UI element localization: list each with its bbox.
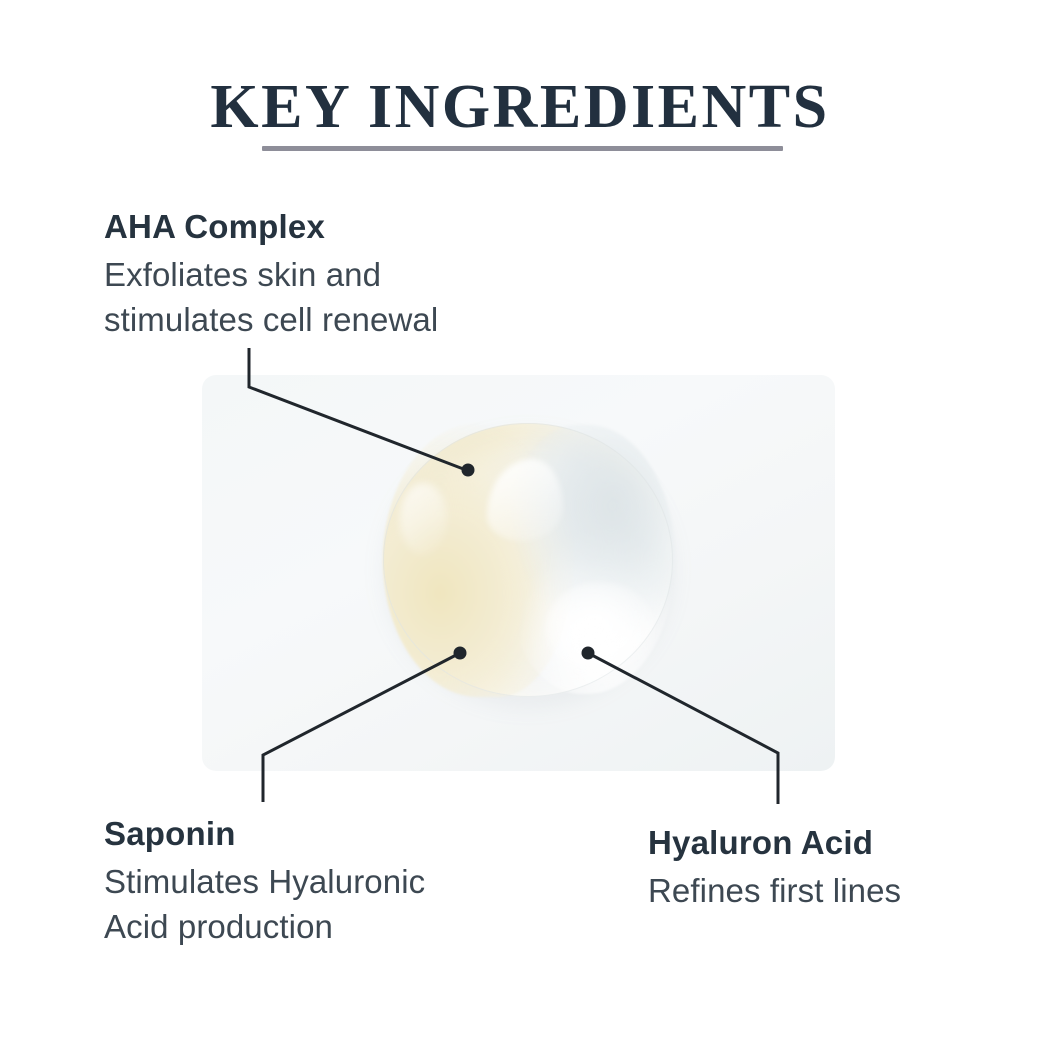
callout-description-line: Stimulates Hyaluronic bbox=[104, 859, 574, 904]
callout-hyaluron-acid: Hyaluron Acid Refines first lines bbox=[648, 822, 1008, 913]
callout-description-hyaluron: Refines first lines bbox=[648, 868, 1008, 913]
callout-description-line: Acid production bbox=[104, 904, 574, 949]
callout-description-aha: Exfoliates skin and stimulates cell rene… bbox=[104, 252, 574, 342]
title-underline-rule bbox=[262, 146, 783, 151]
callout-title-saponin: Saponin bbox=[104, 813, 574, 855]
callout-description-line: stimulates cell renewal bbox=[104, 297, 574, 342]
callout-description-saponin: Stimulates Hyaluronic Acid production bbox=[104, 859, 574, 949]
callout-saponin: Saponin Stimulates Hyaluronic Acid produ… bbox=[104, 813, 574, 949]
bicolor-capsule-pearl bbox=[383, 423, 673, 697]
page-title: KEY INGREDIENTS bbox=[210, 74, 829, 140]
callout-aha-complex: AHA Complex Exfoliates skin and stimulat… bbox=[104, 206, 574, 342]
infographic-canvas: KEY INGREDIENTS AHA Complex Exfoliates s… bbox=[0, 0, 1040, 1040]
callout-title-hyaluron: Hyaluron Acid bbox=[648, 822, 1008, 864]
callout-title-aha: AHA Complex bbox=[104, 206, 574, 248]
pearl-rim-edge bbox=[383, 423, 673, 697]
page-title-block: KEY INGREDIENTS bbox=[0, 74, 1040, 140]
callout-description-line: Exfoliates skin and bbox=[104, 252, 574, 297]
callout-description-line: Refines first lines bbox=[648, 868, 1008, 913]
